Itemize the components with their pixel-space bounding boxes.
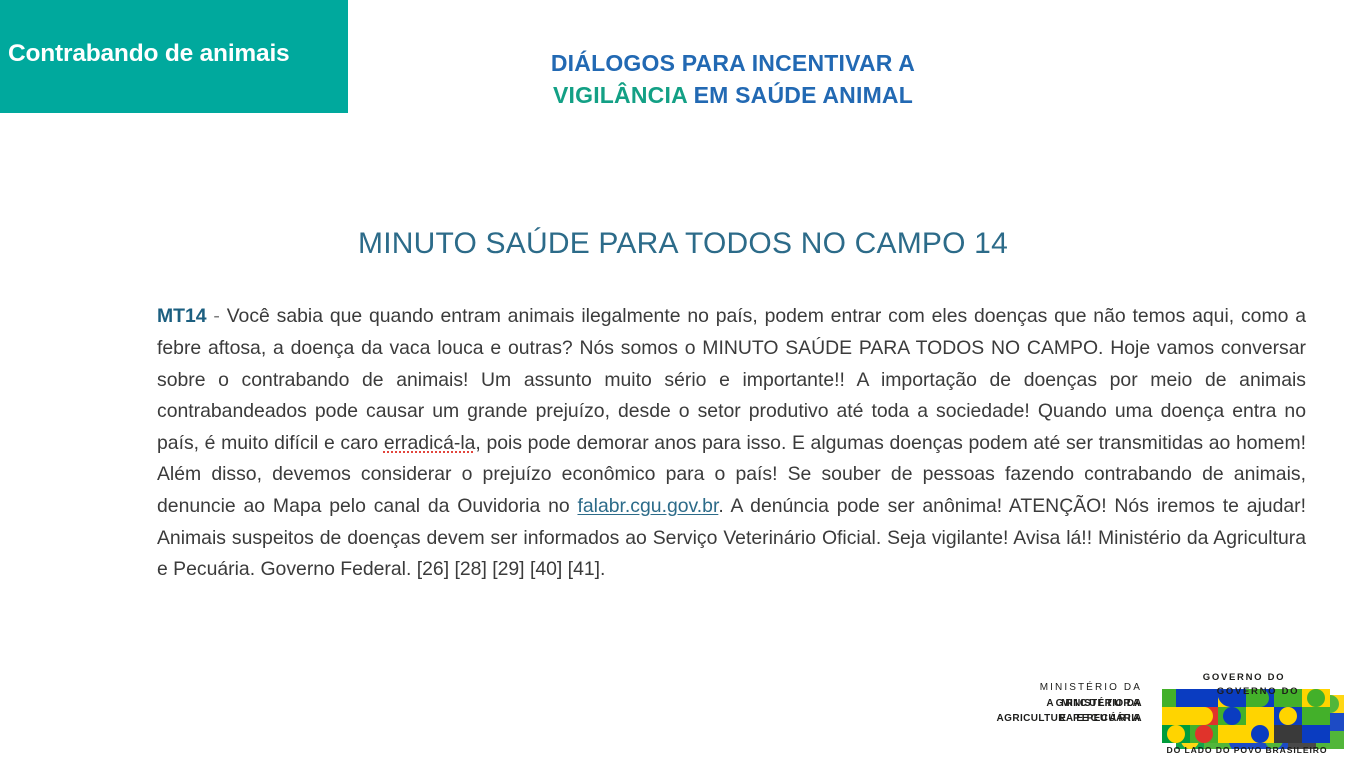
governo-do-label: GOVERNO DO (1158, 672, 1330, 683)
topic-banner: Contrabando de animais (0, 0, 348, 113)
script-dash: - (207, 305, 227, 327)
spellcheck-flagged-word[interactable]: erradicá-la (384, 432, 476, 454)
deck-title-line-2-rest: EM SAÚDE ANIMAL (687, 82, 913, 108)
ministry-ghost-line-2: AGRICULTURA E PECUÁRIA (990, 711, 1142, 727)
topic-banner-label: Contrabando de animais (8, 40, 348, 68)
ministry-wordmark-overlap: MINISTÉRIO DA AGRICULTURA E PECUÁRIA (990, 696, 1142, 727)
brasil-tagline: DO LADO DO POVO BRASILEIRO (1158, 745, 1336, 755)
brasil-government-logo: GOVERNO DO (1158, 662, 1330, 760)
ouvidoria-link[interactable]: falabr.cgu.gov.br (577, 495, 718, 517)
section-heading: MINUTO SAÚDE PARA TODOS NO CAMPO 14 (0, 227, 1366, 261)
ministry-line-1: MINISTÉRIO DA (990, 680, 1142, 696)
deck-title-line-2: VIGILÂNCIA EM SAÚDE ANIMAL (383, 79, 1083, 111)
governo-do-label-overlap: GOVERNO DO (1172, 686, 1344, 697)
script-body-text: MT14 - Você sabia que quando entram anim… (157, 301, 1306, 585)
deck-title: DIÁLOGOS PARA INCENTIVAR A VIGILÂNCIA EM… (383, 47, 1083, 111)
brasil-mosaic-wordmark (1162, 689, 1330, 743)
deck-title-line-1: DIÁLOGOS PARA INCENTIVAR A (383, 47, 1083, 79)
deck-title-highlight: VIGILÂNCIA (553, 82, 687, 108)
script-code-label: MT14 (157, 305, 207, 327)
ministry-ghost-line-1: MINISTÉRIO DA (990, 696, 1142, 712)
footer-logos: MINISTÉRIO DA AGRICULTURA E PECUÁRIA MIN… (990, 662, 1330, 760)
